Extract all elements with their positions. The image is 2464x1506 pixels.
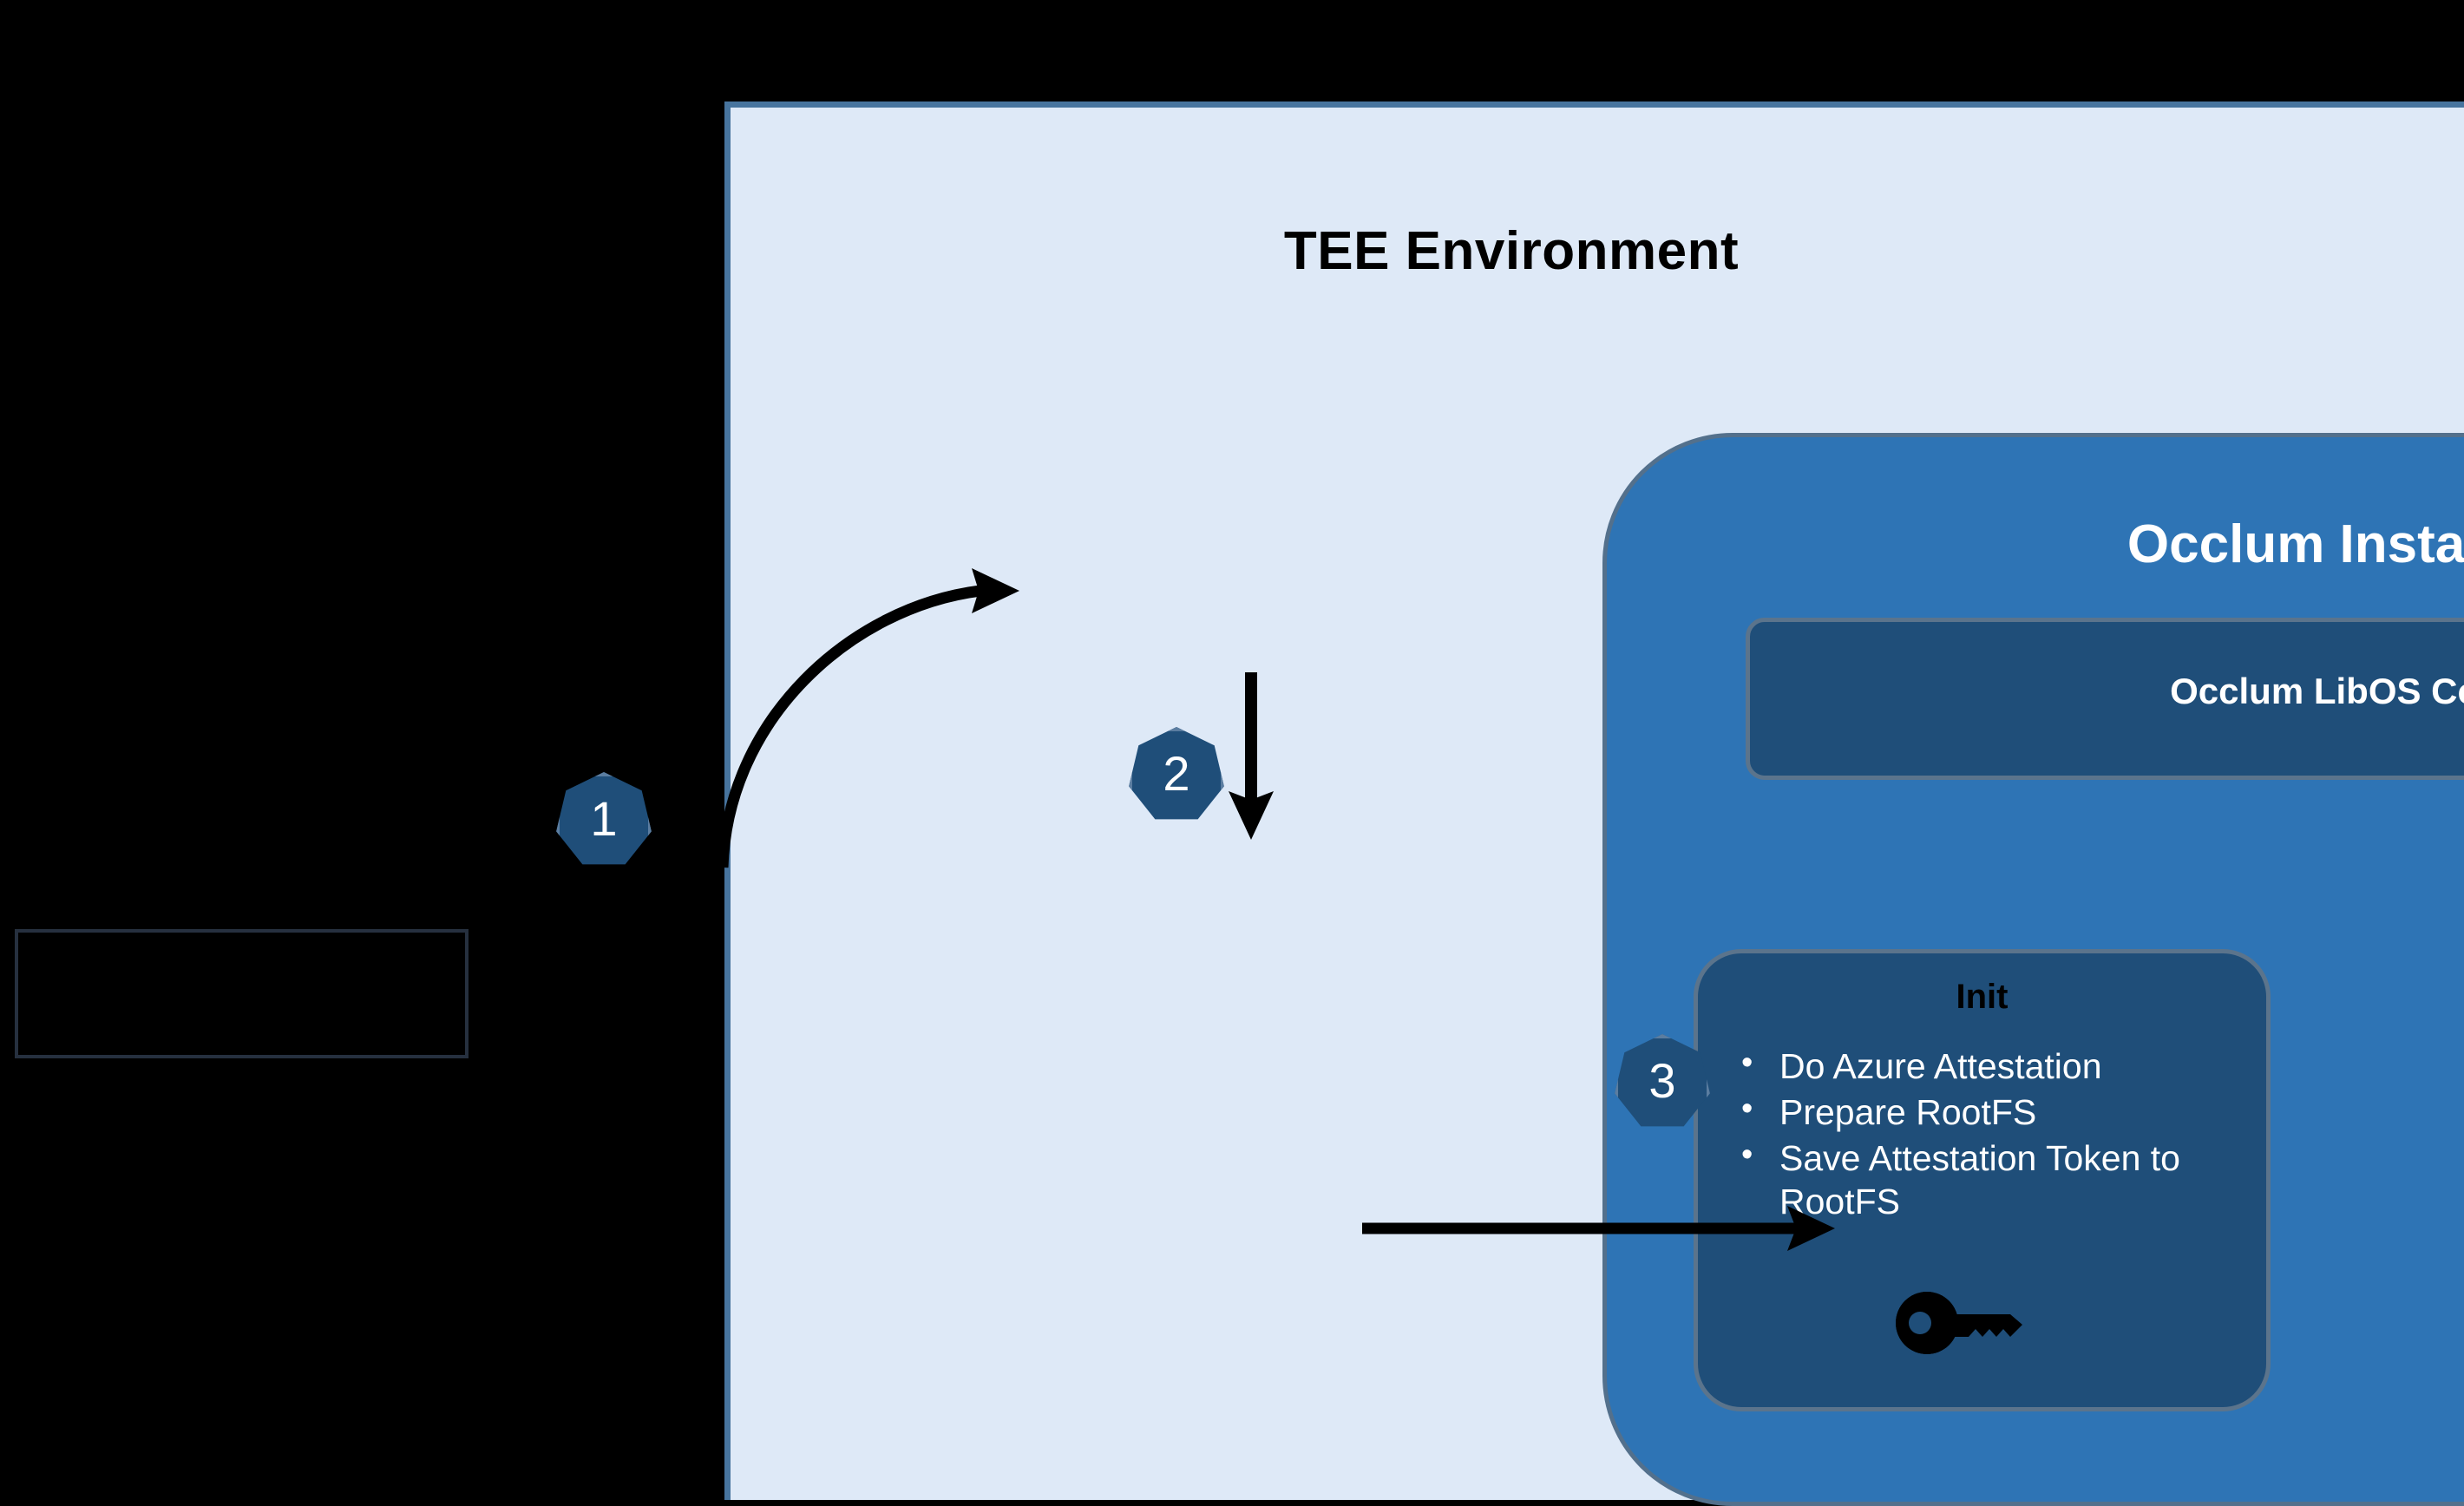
init-title: Init [1698, 978, 2266, 1017]
list-item: Do Azure Attestation [1729, 1044, 2251, 1088]
step-badge-2-label: 2 [1163, 750, 1189, 798]
list-item: Prepare RootFS [1729, 1090, 2251, 1134]
occlum-libos-core-box: Occlum LibOS Core [1746, 618, 2464, 780]
step-badge-1: 1 [555, 772, 652, 869]
occlum-libos-core-label: Occlum LibOS Core [1750, 671, 2464, 712]
init-box: Init Do Azure Attestation Prepare RootFS… [1694, 949, 2271, 1411]
init-bullet-list: Do Azure Attestation Prepare RootFS Save… [1729, 1044, 2251, 1226]
step-badge-3-label: 3 [1648, 1057, 1675, 1105]
occlum-instance-title: Occlum Instance [1607, 514, 2464, 575]
step-badge-1-label: 1 [590, 795, 617, 843]
empty-outlined-rectangle [15, 929, 469, 1058]
key-icon [1896, 1292, 2035, 1354]
tee-environment-panel: TEE Environment Occlum Instance Occlum L… [724, 101, 2464, 1500]
list-item: Save Attestation Token to RootFS [1729, 1136, 2251, 1223]
tee-environment-title: TEE Environment [731, 220, 2292, 282]
